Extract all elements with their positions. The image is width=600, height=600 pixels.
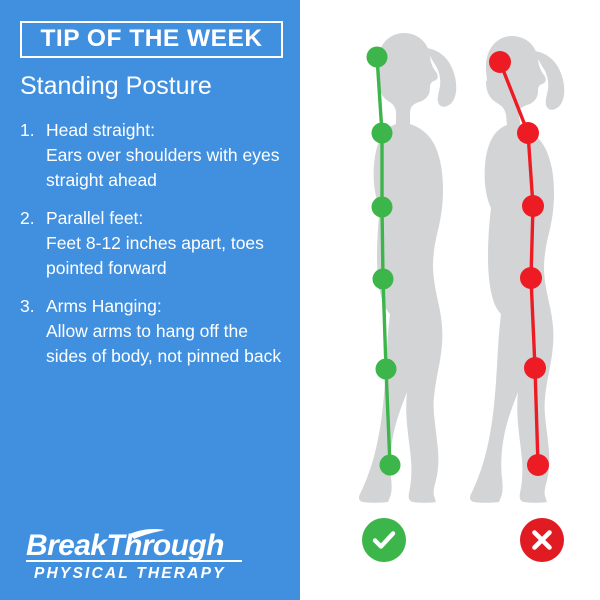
figures-area — [300, 0, 600, 600]
joint-dot-knee — [524, 357, 546, 379]
joint-dot-head — [489, 51, 511, 73]
joint-dot-hip — [520, 267, 542, 289]
joint-dot-midback — [522, 195, 544, 217]
tips-list: 1. Head straight: Ears over shoulders wi… — [20, 118, 285, 382]
list-item-body: Arms Hanging: Allow arms to hang off the… — [46, 294, 285, 369]
list-item-detail: Allow arms to hang off the sides of body… — [46, 319, 285, 369]
list-item: 1. Head straight: Ears over shoulders wi… — [20, 118, 285, 193]
list-item-detail: Ears over shoulders with eyes straight a… — [46, 143, 285, 193]
logo-word-one: BreakThrough — [26, 529, 224, 562]
joint-dot-ankle — [527, 454, 549, 476]
joint-dot-shoulder — [517, 122, 539, 144]
logo-tagline: PHYSICAL THERAPY — [34, 565, 226, 582]
list-item-body: Parallel feet: Feet 8-12 inches apart, t… — [46, 206, 285, 281]
list-item-heading: Head straight: — [46, 118, 285, 143]
tip-of-the-week-label: TIP OF THE WEEK — [40, 27, 262, 52]
list-item-heading: Parallel feet: — [46, 206, 285, 231]
list-item-number: 3. — [20, 294, 46, 319]
logo-rule-top — [26, 560, 242, 562]
incorrect-posture-badge — [520, 518, 564, 562]
correct-posture-badge — [362, 518, 406, 562]
list-item-number: 2. — [20, 206, 46, 231]
logo-word-two-text: Through — [106, 529, 224, 562]
list-item-heading: Arms Hanging: — [46, 294, 285, 319]
page-title: Standing Posture — [20, 73, 212, 101]
list-item: 3. Arms Hanging: Allow arms to hang off … — [20, 294, 285, 369]
list-item-number: 1. — [20, 118, 46, 143]
close-icon — [530, 528, 554, 552]
check-icon — [371, 527, 397, 553]
incorrect-posture-figure — [300, 0, 600, 600]
list-item: 2. Parallel feet: Feet 8-12 inches apart… — [20, 206, 285, 281]
breakthrough-physical-therapy-logo: BreakThrough PHYSICAL THERAPY — [24, 522, 244, 584]
logo-word-one-text: Break — [26, 529, 108, 562]
list-item-body: Head straight: Ears over shoulders with … — [46, 118, 285, 193]
poster-root: TIP OF THE WEEK Standing Posture 1. Head… — [0, 0, 600, 600]
tip-of-the-week-banner: TIP OF THE WEEK — [20, 21, 283, 58]
list-item-detail: Feet 8-12 inches apart, toes pointed for… — [46, 231, 285, 281]
